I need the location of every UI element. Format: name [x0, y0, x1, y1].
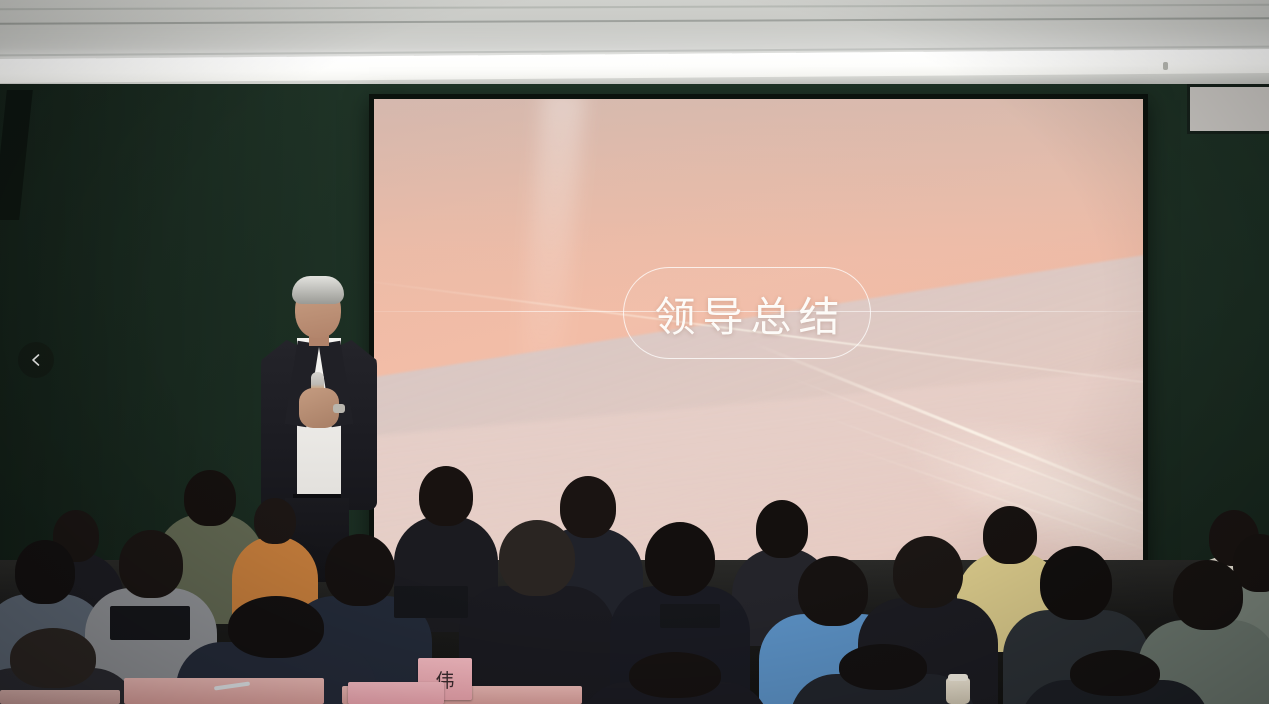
- laptop: [660, 604, 720, 628]
- person-head: [1173, 560, 1243, 630]
- person-head: [893, 536, 963, 608]
- photo-viewer: 领导总结: [0, 0, 1269, 704]
- person-head: [228, 596, 324, 658]
- person-head: [1070, 650, 1160, 696]
- person-head: [15, 540, 75, 604]
- thermos-lid: [948, 674, 968, 681]
- person-head: [10, 628, 96, 688]
- person-head: [629, 652, 721, 698]
- person-head: [254, 498, 296, 544]
- audience-person: [1030, 650, 1200, 704]
- person-head: [119, 530, 183, 598]
- person-head: [645, 522, 715, 596]
- laptop: [394, 586, 468, 618]
- audience-person: [590, 652, 760, 704]
- audience-person: [800, 644, 966, 704]
- person-head: [419, 466, 473, 526]
- name-placard: [348, 682, 444, 704]
- audience-desk: [0, 690, 120, 704]
- person-head: [499, 520, 575, 596]
- previous-button[interactable]: [18, 342, 54, 378]
- person-head: [184, 470, 236, 526]
- audience-group: 伟: [0, 0, 1269, 704]
- thermos-cup: [946, 678, 970, 704]
- audience-person: [468, 520, 606, 704]
- person-head: [798, 556, 868, 626]
- person-head: [756, 500, 808, 558]
- chevron-left-icon: [29, 353, 43, 367]
- audience-desk: [124, 678, 324, 704]
- person-head: [1040, 546, 1112, 620]
- laptop: [110, 606, 190, 640]
- person-head: [839, 644, 927, 690]
